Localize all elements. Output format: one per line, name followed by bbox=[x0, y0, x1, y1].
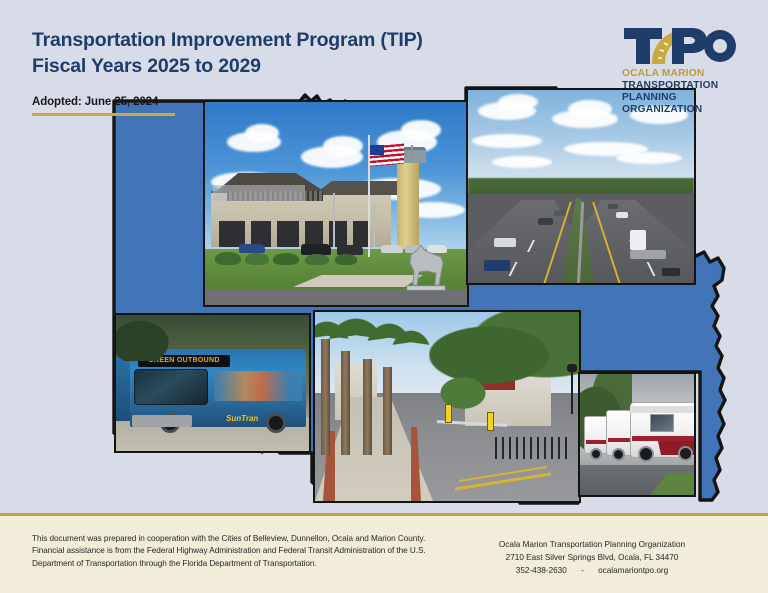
disclaimer-line-1: This document was prepared in cooperatio… bbox=[32, 533, 482, 545]
photo-suntran-transit-bus: GREEN OUTBOUND SunTran bbox=[114, 313, 311, 453]
disclaimer-line-3: Department of Transportation through the… bbox=[32, 558, 482, 570]
footer-bar: This document was prepared in cooperatio… bbox=[0, 513, 768, 593]
logo-subtitle-region: OCALA MARION bbox=[622, 68, 738, 80]
page-title-line-2: Fiscal Years 2025 to 2029 bbox=[32, 53, 592, 79]
agency-phone[interactable]: 352-438-2630 bbox=[516, 566, 567, 575]
photo-downtown-street bbox=[313, 310, 581, 503]
funding-disclaimer: This document was prepared in cooperatio… bbox=[32, 533, 482, 570]
adopted-underline-rule bbox=[32, 113, 175, 116]
contact-separator: - bbox=[569, 566, 596, 575]
agency-website[interactable]: ocalamariontpo.org bbox=[598, 566, 668, 575]
tpo-logo: OCALA MARION TRANSPORTATION PLANNING ORG… bbox=[622, 26, 738, 116]
logo-subtitle-line-1: TRANSPORTATION bbox=[622, 80, 738, 92]
photo-ocala-international-airport bbox=[203, 100, 469, 307]
tip-cover-page: GREEN OUTBOUND SunTran bbox=[0, 0, 768, 593]
adopted-date-block: Adopted: June 25, 2024 bbox=[32, 96, 175, 116]
logo-subtitle-line-2: PLANNING bbox=[622, 92, 738, 104]
header-block: Transportation Improvement Program (TIP)… bbox=[32, 27, 592, 116]
agency-address: 2710 East Silver Springs Blvd, Ocala, FL… bbox=[442, 551, 742, 564]
agency-contact-block: Ocala Marion Transportation Planning Org… bbox=[442, 538, 742, 578]
photo-paratransit-vans bbox=[578, 372, 696, 497]
tpo-logo-mark-icon bbox=[622, 26, 736, 66]
adopted-date-label: Adopted: June 25, 2024 bbox=[32, 96, 175, 111]
horse-sculpture-icon bbox=[403, 241, 449, 291]
disclaimer-line-2: Financial assistance is from the Federal… bbox=[32, 545, 482, 557]
logo-subtitle-line-3: ORGANIZATION bbox=[622, 104, 738, 116]
page-title-line-1: Transportation Improvement Program (TIP) bbox=[32, 27, 592, 53]
agency-name: Ocala Marion Transportation Planning Org… bbox=[442, 538, 742, 551]
photo-interstate-highway bbox=[466, 88, 696, 285]
